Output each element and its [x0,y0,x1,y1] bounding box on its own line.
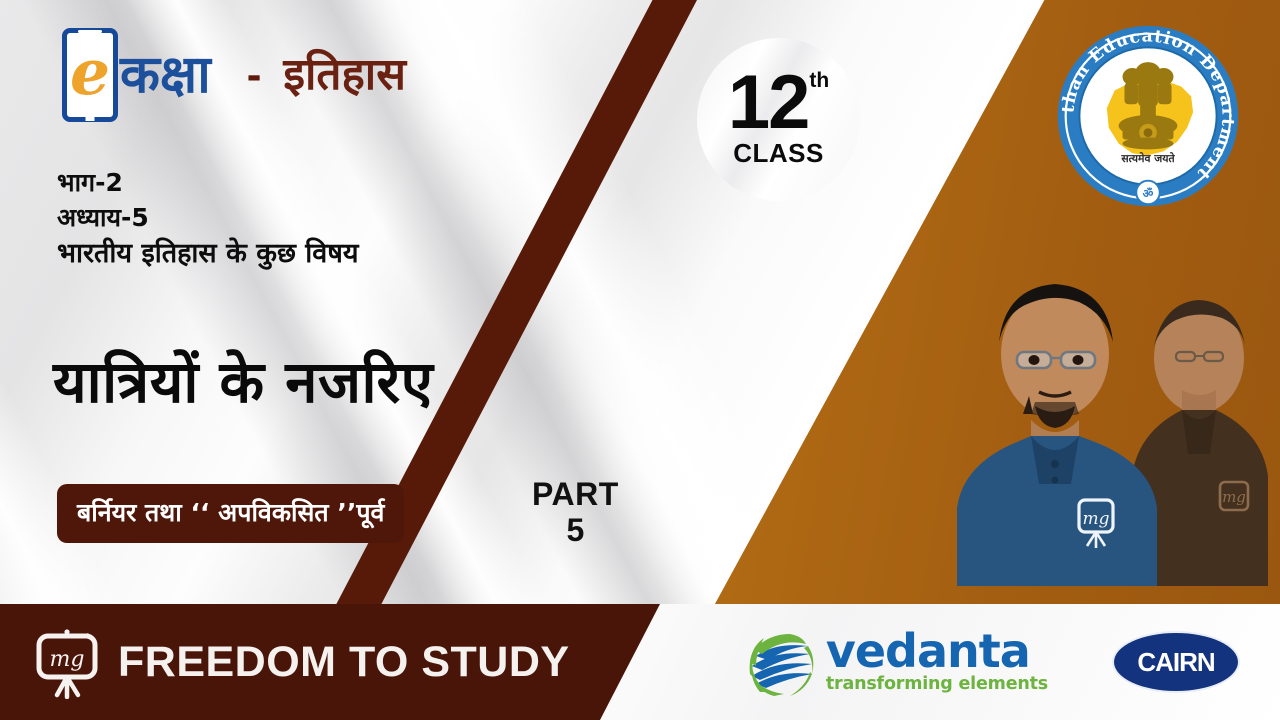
logo-motto: सत्यमेव जयते [1120,152,1175,165]
page-title: यात्रियों के नजरिए [53,340,433,419]
sponsor-logos: vedanta transforming elements CAIRN [746,604,1240,720]
vedanta-logo: vedanta transforming elements [746,626,1048,698]
instructor-photos: mg mg [930,236,1280,586]
class-number: 12 [728,70,809,135]
cairn-wordmark: CAIRN [1137,647,1214,678]
mg-logo-icon: mg [30,625,104,699]
footer-brand: mg FREEDOM TO STUDY [30,604,570,720]
logo-bottom-emblem-glyph: ॐ [1143,186,1154,200]
class-word: CLASS [733,138,824,169]
lesson-meta: भाग-2 अध्याय-5 भारतीय इतिहास के कुछ विषय [57,166,359,272]
meta-chapter-line: अध्याय-5 [57,201,359,236]
meta-book-line: भारतीय इतिहास के कुछ विषय [57,235,359,272]
brand-letter-e: e [70,48,110,97]
rajasthan-education-department-logo: Rajasthan Education Department सत्यमेव ज… [1050,18,1246,214]
brand-subject: इतिहास [283,53,406,97]
part-indicator: PART 5 [532,478,619,548]
topic-badge: बर्नियर तथा ‘‘ अपविकसित ’’पूर्व [57,484,404,543]
brand-separator: - [247,53,262,97]
class-badge: 12 th CLASS [697,38,860,201]
mg-logo-text: mg [50,647,85,672]
part-label: PART [532,478,619,512]
class-number-row: 12 th [728,70,829,135]
brand-header: e कक्षा - इतिहास [62,28,406,122]
class-ordinal: th [809,72,829,90]
smartphone-icon: e [62,28,118,122]
meta-part-line: भाग-2 [57,166,359,201]
footer-tagline: FREEDOM TO STUDY [118,638,570,687]
brand-name-hindi: कक्षा [120,49,211,101]
vedanta-wordmark: vedanta [826,630,1048,674]
svg-text:mg: mg [1222,488,1246,506]
part-number: 5 [532,512,619,549]
vedanta-tagline: transforming elements [826,674,1048,694]
slide-canvas: e कक्षा - इतिहास भाग-2 अध्याय-5 भारतीय इ… [0,0,1280,720]
svg-text:mg: mg [1082,509,1109,529]
vedanta-globe-icon [746,626,818,698]
cairn-logo: CAIRN [1112,631,1240,693]
instructor-front: mg [955,268,1160,586]
